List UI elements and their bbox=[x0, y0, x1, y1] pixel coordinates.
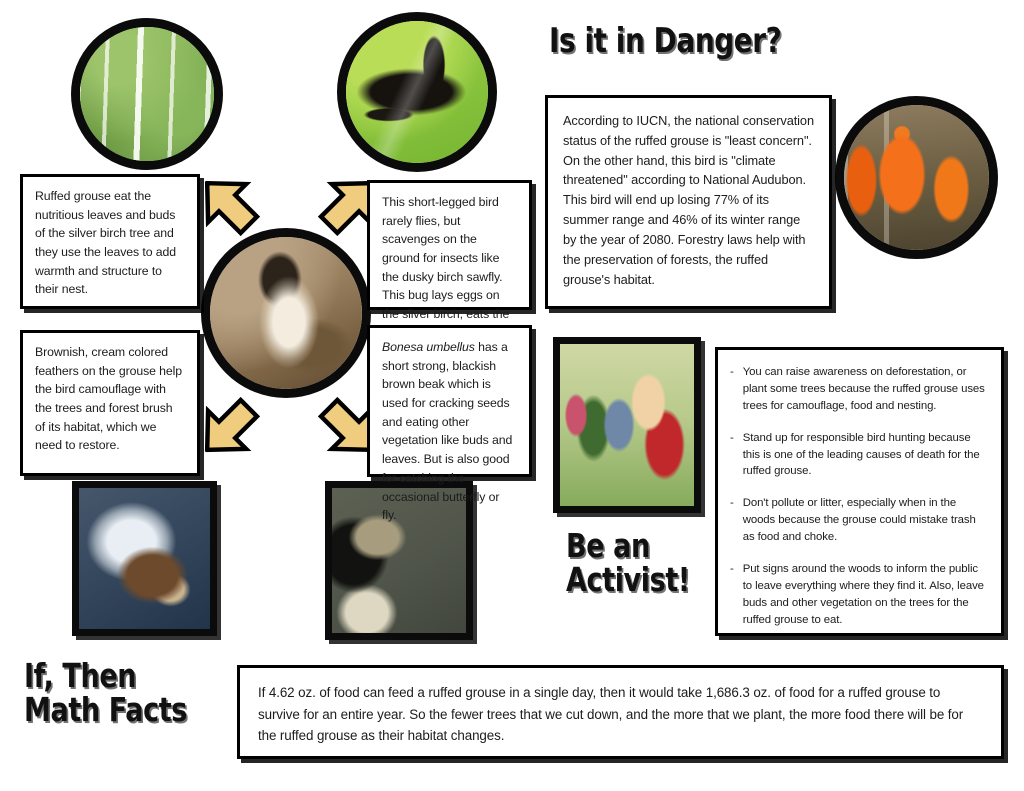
list-item-text: You can raise awareness on deforestation… bbox=[743, 364, 987, 415]
list-item: - Don't pollute or litter, especially wh… bbox=[730, 495, 987, 546]
activist-list: - You can raise awareness on deforestati… bbox=[730, 364, 987, 628]
list-item: - Stand up for responsible bird hunting … bbox=[730, 430, 987, 481]
textbox-danger-text: According to IUCN, the national conserva… bbox=[563, 111, 814, 289]
grouse-center-image bbox=[210, 237, 362, 389]
children-planting-tree-photo bbox=[553, 337, 701, 513]
textbox-activist-list: - You can raise awareness on deforestati… bbox=[715, 347, 1004, 636]
list-bullet: - bbox=[730, 364, 734, 415]
textbox-beak-text: Bonesa umbellus has a short strong, blac… bbox=[382, 338, 517, 525]
orange-clad-hunters-photo bbox=[835, 96, 998, 259]
frosted-birch-bud-photo bbox=[72, 481, 217, 636]
textbox-sawfly: This short-legged bird rarely flies, but… bbox=[367, 180, 532, 310]
textbox-beak-rest: has a short strong, blackish brown beak … bbox=[382, 340, 512, 522]
list-item: - Put signs around the woods to inform t… bbox=[730, 561, 987, 629]
sawfly-image bbox=[346, 21, 488, 163]
birch-forest-photo bbox=[71, 18, 223, 170]
birch-forest-image bbox=[80, 27, 214, 161]
list-item: - You can raise awareness on deforestati… bbox=[730, 364, 987, 415]
list-item-text: Put signs around the woods to inform the… bbox=[743, 561, 987, 629]
list-item-text: Don't pollute or litter, especially when… bbox=[743, 495, 987, 546]
list-bullet: - bbox=[730, 495, 734, 546]
page-title-danger: Is it in Danger? bbox=[549, 24, 781, 59]
textbox-danger: According to IUCN, the national conserva… bbox=[545, 95, 832, 309]
list-bullet: - bbox=[730, 430, 734, 481]
hunters-image bbox=[844, 105, 989, 250]
section-heading-activist: Be an Activist! bbox=[566, 529, 690, 596]
list-item-text: Stand up for responsible bird hunting be… bbox=[743, 430, 987, 481]
textbox-beak: Bonesa umbellus has a short strong, blac… bbox=[367, 325, 532, 477]
textbox-birch-food: Ruffed grouse eat the nutritious leaves … bbox=[20, 174, 200, 309]
section-heading-math: If, Then Math Facts bbox=[24, 659, 187, 726]
frosted-bud-image bbox=[79, 488, 210, 629]
list-bullet: - bbox=[730, 561, 734, 629]
kids-planting-image bbox=[560, 344, 694, 506]
species-name: Bonesa umbellus bbox=[382, 340, 475, 354]
infographic-poster: Is it in Danger? Be an Activist! If, The… bbox=[0, 0, 1024, 791]
textbox-birch-food-text: Ruffed grouse eat the nutritious leaves … bbox=[35, 187, 185, 299]
textbox-camouflage: Brownish, cream colored feathers on the … bbox=[20, 330, 200, 476]
dusky-birch-sawfly-photo bbox=[337, 12, 497, 172]
ruffed-grouse-center-photo bbox=[201, 228, 371, 398]
textbox-math-facts: If 4.62 oz. of food can feed a ruffed gr… bbox=[237, 665, 1004, 759]
textbox-math-facts-text: If 4.62 oz. of food can feed a ruffed gr… bbox=[258, 682, 983, 747]
textbox-camouflage-text: Brownish, cream colored feathers on the … bbox=[35, 343, 185, 455]
